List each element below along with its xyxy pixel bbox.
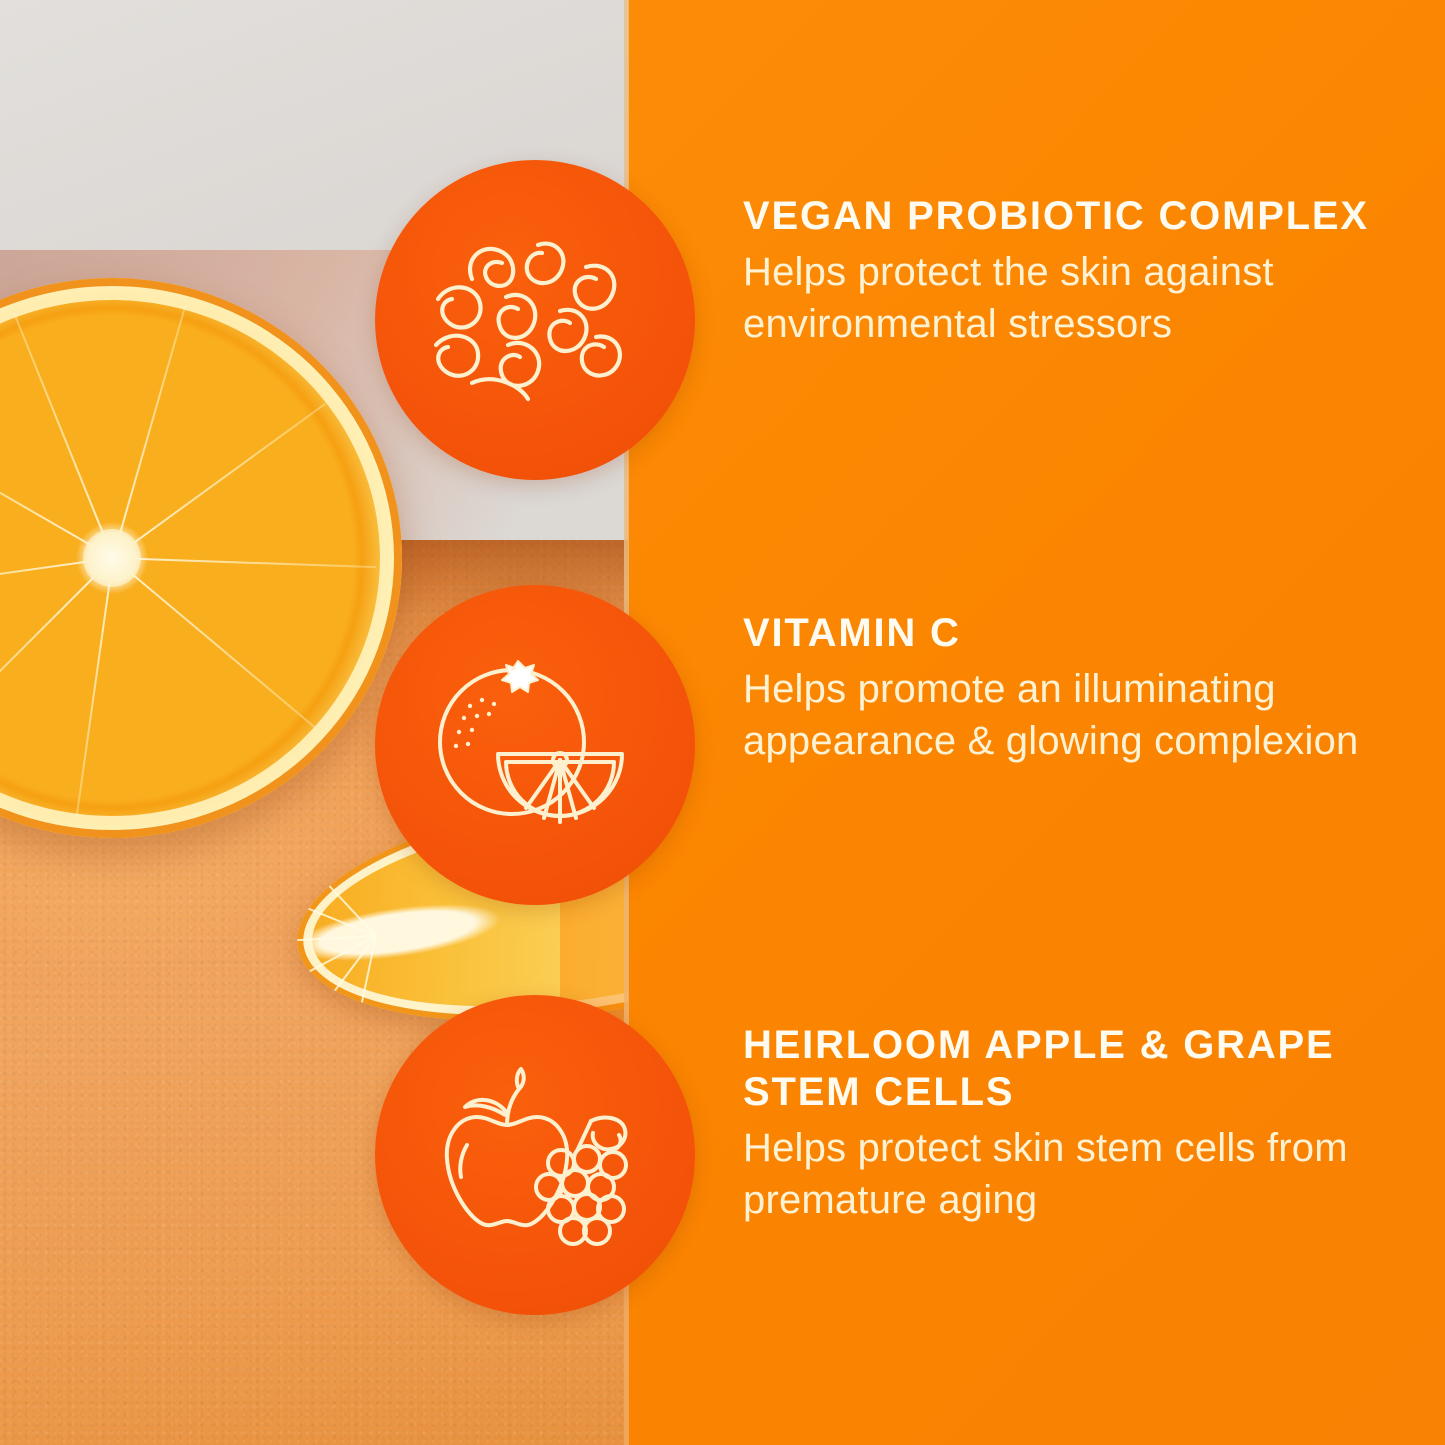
ingredient-benefits-infographic: VEGAN PROBIOTIC COMPLEX Helps protect th… (0, 0, 1445, 1445)
feature-badge-stem-cells (375, 995, 695, 1315)
feature-badge-probiotic (375, 160, 695, 480)
feature-text-stem-cells: HEIRLOOM APPLE & GRAPE STEM CELLS Helps … (743, 1022, 1445, 1226)
feature-text-probiotic: VEGAN PROBIOTIC COMPLEX Helps protect th… (743, 193, 1443, 350)
feature-body: Helps promote an illuminating appearance… (743, 663, 1443, 767)
feature-heading: HEIRLOOM APPLE & GRAPE STEM CELLS (743, 1022, 1445, 1116)
orange-core (83, 529, 141, 587)
feature-badge-vitamin-c (375, 585, 695, 905)
probiotic-bacteria-icon (420, 215, 650, 425)
feature-text-vitamin-c: VITAMIN C Helps promote an illuminating … (743, 610, 1443, 767)
orange-fruit-slice-icon (420, 650, 650, 840)
feature-heading: VEGAN PROBIOTIC COMPLEX (743, 193, 1443, 240)
feature-body: Helps protect the skin against environme… (743, 246, 1443, 350)
feature-body: Helps protect skin stem cells from prema… (743, 1122, 1445, 1226)
feature-heading: VITAMIN C (743, 610, 1443, 657)
apple-grapes-icon (415, 1055, 655, 1255)
